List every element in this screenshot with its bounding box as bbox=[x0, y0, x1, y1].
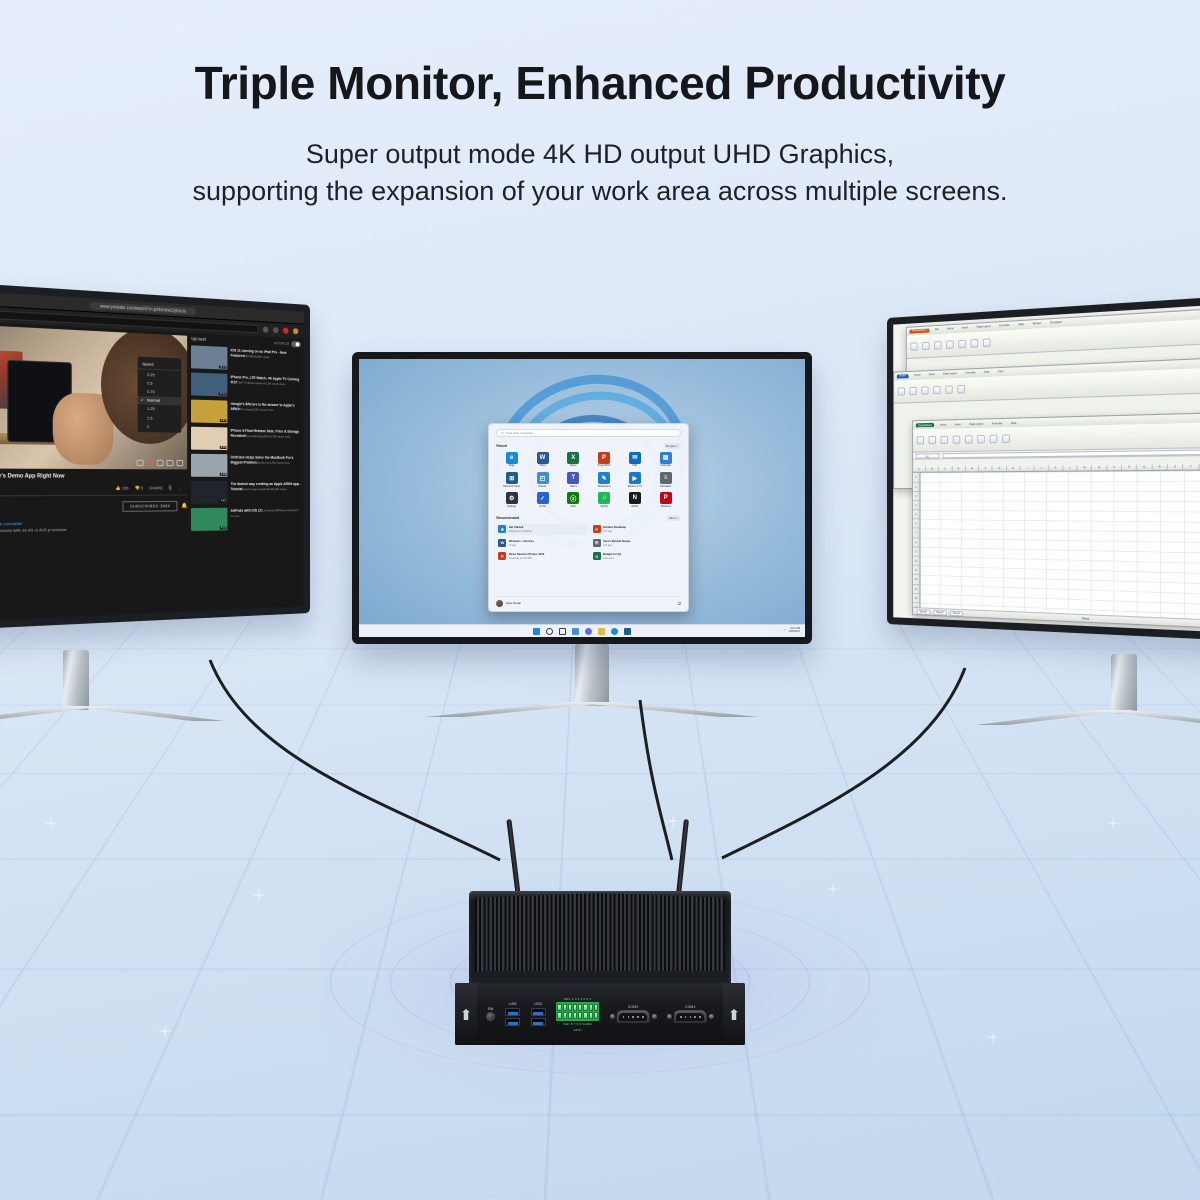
row-header[interactable]: 13 bbox=[913, 584, 919, 594]
system-tray[interactable]: ˄ 6:02 AM 4/25/2021 bbox=[784, 628, 800, 634]
app-icon[interactable]: ✎ bbox=[598, 472, 610, 484]
column-header[interactable]: J bbox=[1035, 466, 1049, 471]
app-icon[interactable]: ♫ bbox=[598, 492, 610, 504]
usb-port[interactable] bbox=[531, 1008, 546, 1016]
notifications-icon[interactable] bbox=[283, 327, 288, 333]
ribbon-group[interactable] bbox=[957, 385, 965, 393]
row-headers[interactable]: 1234567891011121314151617181920212223242… bbox=[913, 473, 920, 607]
start-search-input[interactable]: ⚲ Type here to search bbox=[496, 429, 681, 437]
video-player[interactable]: Speed 0.25 0.5 0.75 Normal 1.25 1.5 2 bbox=[0, 324, 187, 469]
gpio-pin[interactable] bbox=[578, 1004, 582, 1011]
upload-icon[interactable] bbox=[263, 326, 269, 332]
pinned-app[interactable]: ▤Calendar bbox=[650, 452, 681, 468]
usb-label: USB bbox=[534, 1002, 542, 1006]
percent-icon[interactable] bbox=[965, 436, 973, 444]
gpio-pin[interactable] bbox=[583, 1004, 587, 1011]
font-icon[interactable] bbox=[934, 341, 941, 350]
chat-icon[interactable] bbox=[585, 628, 592, 635]
merge-icon[interactable] bbox=[952, 436, 959, 444]
power-icon[interactable]: ⏻ bbox=[678, 601, 681, 606]
db9-pin bbox=[680, 1016, 682, 1018]
row-header[interactable]: 2 bbox=[913, 482, 919, 491]
recommended-item[interactable]: ❖Get StartedWelcome to Windows bbox=[496, 524, 586, 535]
power-button-group[interactable]: SW bbox=[486, 1007, 495, 1022]
gpio-row-top[interactable] bbox=[557, 1004, 598, 1011]
recommended-item[interactable]: XBudget for Q1Last week bbox=[591, 551, 681, 562]
theater-icon[interactable] bbox=[167, 460, 174, 466]
column-header[interactable]: G bbox=[993, 466, 1007, 471]
column-header[interactable]: D bbox=[952, 467, 965, 472]
subscribe-row: SUBSCRIBED 366K 🔔 bbox=[0, 501, 187, 514]
start-icon[interactable] bbox=[533, 628, 540, 635]
video-item-channel: LifeHacks BR bbox=[262, 508, 279, 512]
find-icon[interactable] bbox=[983, 338, 991, 347]
pinned-app[interactable]: ⚙Settings bbox=[496, 492, 527, 508]
app-icon[interactable]: ✉ bbox=[629, 452, 641, 464]
list-item[interactable]: 4:47Google's ARCore is the answer to App… bbox=[191, 399, 301, 424]
pinned-app[interactable]: PPinterest bbox=[650, 492, 681, 508]
recommended-title: Vera's Retreat Recipe bbox=[603, 540, 630, 543]
usb-port[interactable] bbox=[505, 1018, 520, 1026]
sheet-tab[interactable]: Sheet1 bbox=[916, 609, 930, 615]
user-account-button[interactable]: Arice Parap bbox=[496, 600, 521, 607]
search-icon[interactable] bbox=[546, 628, 553, 635]
com1-port[interactable] bbox=[667, 1010, 714, 1023]
ribbon-tab[interactable]: Review bbox=[1030, 322, 1044, 327]
column-header[interactable]: O bbox=[1107, 465, 1122, 471]
column-header[interactable]: Q bbox=[1137, 465, 1152, 471]
column-header[interactable]: L bbox=[1063, 466, 1077, 471]
column-header[interactable]: I bbox=[1021, 466, 1035, 471]
insert-cells-icon[interactable] bbox=[989, 435, 997, 443]
ribbon-tab[interactable]: Insert bbox=[959, 326, 971, 331]
sparkle-icon bbox=[38, 810, 64, 836]
serial-group-com2[interactable]: COM2 bbox=[610, 1005, 657, 1024]
ribbon-group[interactable] bbox=[921, 386, 928, 394]
sheet-tab[interactable]: Sheet3 bbox=[949, 610, 963, 616]
gpio-pin[interactable] bbox=[568, 1012, 572, 1019]
task-view-icon[interactable] bbox=[559, 628, 566, 635]
gpio-terminal-block[interactable] bbox=[556, 1002, 600, 1021]
apps-icon[interactable] bbox=[273, 327, 278, 333]
cell-area[interactable] bbox=[920, 471, 1200, 620]
row-header[interactable]: 7 bbox=[913, 529, 919, 538]
sheet-tab[interactable]: Sheet2 bbox=[933, 609, 947, 615]
app-icon[interactable]: ◰ bbox=[537, 472, 549, 484]
pinned-header: Pinned bbox=[496, 444, 507, 448]
gpio-pin[interactable] bbox=[573, 1004, 577, 1011]
pinned-app[interactable]: ✉Mail bbox=[619, 452, 650, 468]
column-header[interactable]: E bbox=[966, 466, 980, 471]
clipboard-icon[interactable] bbox=[898, 387, 905, 395]
recommended-text: Get StartedWelcome to Windows bbox=[509, 525, 532, 533]
gpio-pin[interactable] bbox=[594, 1004, 598, 1011]
screw-icon bbox=[652, 1014, 657, 1019]
list-item[interactable]: 4:43The fastest way creating an Apple AR… bbox=[191, 480, 301, 503]
subscribe-button[interactable]: SUBSCRIBED 366K bbox=[123, 501, 177, 512]
db9-pin bbox=[699, 1016, 701, 1018]
ribbon-tab[interactable]: Page Layout bbox=[974, 325, 994, 330]
video-thumbnail[interactable]: 4:47 bbox=[191, 399, 227, 423]
subtitle-line-1: Super output mode 4K HD output UHD Graph… bbox=[0, 136, 1200, 173]
fullscreen-icon[interactable] bbox=[177, 460, 184, 466]
list-item[interactable]: 10:12iPhone Pro, LTE Watch, 4K Apple TV … bbox=[191, 372, 301, 398]
ribbon-group[interactable] bbox=[970, 339, 978, 348]
pinned-app[interactable]: PPowerPoint bbox=[589, 452, 620, 468]
ribbon-group[interactable] bbox=[977, 435, 985, 443]
app-label: Pinterest bbox=[650, 506, 681, 509]
db9-connector[interactable] bbox=[673, 1010, 707, 1023]
screen-windows: ⚲ Type here to search Pinned All apps > … bbox=[352, 352, 812, 644]
row-header[interactable]: 10 bbox=[913, 557, 919, 566]
edge-icon[interactable] bbox=[611, 628, 618, 635]
row-header[interactable]: 11 bbox=[913, 566, 919, 575]
power-label: SW bbox=[488, 1007, 494, 1011]
app-icon[interactable]: ≡ bbox=[660, 472, 672, 484]
video-duration: 8:04 bbox=[220, 445, 227, 448]
app-label: Netflix bbox=[619, 506, 650, 509]
ribbon-tab[interactable]: Formulas bbox=[996, 323, 1012, 328]
pinned-app[interactable]: ✓To Do bbox=[527, 492, 558, 508]
row-header[interactable]: 9 bbox=[913, 547, 919, 556]
sort-icon[interactable] bbox=[945, 385, 952, 393]
row-header[interactable]: 5 bbox=[913, 510, 919, 519]
ribbon-group[interactable] bbox=[922, 342, 929, 350]
pinned-app[interactable]: NNetflix bbox=[619, 492, 650, 508]
video-thumbnail[interactable]: 2:03 bbox=[191, 453, 227, 476]
recommended-title: Surface Roadmap bbox=[603, 526, 626, 529]
ribbon-group[interactable] bbox=[945, 385, 952, 393]
column-header[interactable]: T bbox=[1183, 464, 1199, 470]
gpio-pin[interactable] bbox=[568, 1004, 572, 1011]
conditional-format-icon[interactable] bbox=[977, 435, 985, 443]
window-tab-label[interactable]: Book1 bbox=[897, 374, 909, 379]
list-item[interactable]: 15:14iOS 11 running on an iPad Pro - New… bbox=[191, 345, 301, 372]
autosum-icon[interactable] bbox=[1002, 435, 1010, 443]
app-icon[interactable]: e bbox=[506, 452, 518, 464]
like-button[interactable]: 👍 196 bbox=[116, 485, 129, 490]
db9-connector[interactable] bbox=[616, 1010, 650, 1023]
recommended-item[interactable]: PParas Reunion Photos 2019Yesterday at 4… bbox=[496, 551, 586, 562]
video-item-views: 449 views bbox=[275, 487, 287, 491]
mounting-bracket-right bbox=[723, 983, 745, 1045]
settings-icon[interactable] bbox=[157, 460, 164, 466]
pinned-app[interactable]: XExcel bbox=[558, 452, 589, 468]
store-icon[interactable] bbox=[624, 628, 631, 635]
ribbon-group[interactable] bbox=[933, 386, 940, 394]
recommended-item[interactable]: WWindows + Devices7h ago bbox=[496, 537, 586, 548]
column-header[interactable]: K bbox=[1049, 466, 1063, 471]
ribbon-tab[interactable]: Data bbox=[981, 370, 992, 375]
video-duration: 2:03 bbox=[220, 472, 227, 475]
more-recommended-button[interactable]: More > bbox=[666, 515, 681, 521]
ribbon-tab[interactable]: Home bbox=[912, 373, 924, 378]
speed-option[interactable]: 2 bbox=[138, 422, 182, 431]
ribbon-tab[interactable]: Page Layout bbox=[940, 372, 959, 377]
ribbon-group[interactable] bbox=[910, 342, 917, 350]
gpio-pin[interactable] bbox=[563, 1004, 567, 1011]
video-item-channel: The Verge bbox=[240, 407, 253, 411]
serial-group-com1[interactable]: COM1 bbox=[667, 1005, 714, 1024]
shapes-icon[interactable] bbox=[958, 340, 966, 349]
app-icon[interactable]: T bbox=[567, 472, 579, 484]
save-button[interactable]: ⎘ bbox=[169, 485, 172, 490]
ribbon-group[interactable] bbox=[898, 387, 905, 395]
column-header[interactable]: A bbox=[913, 467, 926, 472]
filter-icon[interactable] bbox=[933, 386, 940, 394]
video-duration: 4:15 bbox=[220, 526, 227, 529]
toggle-switch[interactable] bbox=[291, 341, 301, 347]
video-meta: AirPods with iOS 11!LifeHacks BRRecommen… bbox=[231, 507, 302, 530]
avatar[interactable] bbox=[293, 328, 298, 334]
row-header[interactable]: 12 bbox=[913, 575, 919, 584]
ribbon-group[interactable] bbox=[989, 435, 997, 443]
paste-icon[interactable] bbox=[910, 342, 917, 350]
recommended-item[interactable]: ☰Vera's Retreat Recipe12h ago bbox=[591, 537, 681, 548]
row-header[interactable]: 17 bbox=[913, 622, 919, 630]
column-header[interactable]: P bbox=[1122, 465, 1137, 471]
column-header[interactable]: M bbox=[1078, 465, 1093, 470]
pinned-app[interactable]: WWord bbox=[527, 452, 558, 468]
app-icon[interactable]: ⚙ bbox=[506, 492, 518, 504]
app-icon[interactable]: ⓧ bbox=[567, 492, 579, 504]
file-explorer-icon[interactable] bbox=[598, 628, 605, 635]
row-header[interactable]: 3 bbox=[913, 492, 919, 501]
usb-port[interactable] bbox=[505, 1008, 520, 1016]
row-header[interactable]: 4 bbox=[913, 501, 919, 510]
sparkle-icon bbox=[820, 876, 846, 902]
ribbon-tab[interactable]: Data bbox=[1008, 421, 1019, 425]
ribbon-group[interactable] bbox=[916, 437, 923, 445]
app-icon[interactable]: X bbox=[567, 452, 579, 464]
heatsink-fins bbox=[475, 893, 725, 971]
app-icon[interactable]: W bbox=[537, 452, 549, 464]
app-label: Settings bbox=[496, 506, 527, 509]
pinned-app[interactable]: ♫Spotify bbox=[589, 492, 620, 508]
delete-icon[interactable] bbox=[957, 385, 965, 393]
ribbon-tab[interactable]: Data bbox=[1015, 323, 1026, 328]
recommended-title: Windows + Devices bbox=[509, 540, 534, 543]
recommended-text: Vera's Retreat Recipe12h ago bbox=[603, 539, 630, 547]
ribbon-tab[interactable]: Page Layout bbox=[967, 422, 987, 427]
more-actions-button[interactable]: … bbox=[178, 485, 182, 490]
app-label: Calendar bbox=[650, 465, 681, 468]
ribbon-group[interactable] bbox=[952, 436, 959, 444]
gpio-pin[interactable] bbox=[563, 1012, 567, 1019]
column-header[interactable]: S bbox=[1168, 465, 1184, 471]
list-item[interactable]: 2:03DeltCase Helps Solve the MacBook Pro… bbox=[191, 453, 301, 476]
ribbon-tab[interactable]: Home bbox=[944, 327, 956, 332]
search-placeholder: Type here to search bbox=[506, 431, 533, 435]
gpio-name-label: GPIO bbox=[573, 1028, 581, 1032]
pinned-app[interactable]: ▶Movies & TV bbox=[619, 472, 650, 488]
app-label: Edge bbox=[496, 465, 527, 468]
widgets-icon[interactable] bbox=[572, 628, 579, 635]
video-meta: iPhone Pro, LTE Watch, 4K Apple TV Comin… bbox=[231, 373, 302, 398]
all-apps-button[interactable]: All apps > bbox=[663, 443, 681, 449]
gpio-pin[interactable] bbox=[573, 1012, 577, 1019]
ribbon-tab[interactable]: Insert bbox=[926, 373, 938, 378]
name-box[interactable]: A1 bbox=[915, 453, 939, 458]
video-thumbnail[interactable]: 15:14 bbox=[191, 345, 227, 369]
video-thumbnail[interactable]: 10:12 bbox=[191, 372, 227, 396]
app-icon[interactable]: P bbox=[660, 492, 672, 504]
start-menu[interactable]: ⚲ Type here to search Pinned All apps > … bbox=[488, 423, 689, 612]
pinned-app[interactable]: ≡Calculator bbox=[650, 472, 681, 488]
mounting-bracket-left bbox=[455, 983, 477, 1045]
ribbon-group[interactable] bbox=[909, 387, 916, 395]
video-meta: iPhone 8 Final Release Date, Price & Sto… bbox=[231, 427, 302, 450]
arrange-icon[interactable] bbox=[970, 339, 978, 348]
recommended-text: Paras Reunion Photos 2019Yesterday at 4:… bbox=[509, 552, 544, 560]
heatsink bbox=[469, 891, 731, 983]
player-controls[interactable] bbox=[137, 460, 184, 467]
app-icon[interactable]: ▤ bbox=[660, 452, 672, 464]
recommended-icon: P bbox=[498, 552, 506, 560]
window-tab-label[interactable]: Presentation1 bbox=[909, 328, 929, 333]
align-icon[interactable] bbox=[946, 340, 953, 349]
recommended-icon: P bbox=[593, 525, 601, 533]
pinned-app[interactable]: ✎Whiteboard bbox=[589, 472, 620, 488]
list-item[interactable]: 8:04iPhone 8 Final Release Date, Price &… bbox=[191, 426, 301, 450]
page-title: Triple Monitor, Enhanced Productivity bbox=[0, 58, 1200, 110]
ribbon-tab[interactable]: File bbox=[932, 328, 941, 333]
ribbon-group[interactable] bbox=[965, 436, 973, 444]
gpio-pin[interactable] bbox=[557, 1004, 561, 1011]
autoplay-icon[interactable] bbox=[137, 460, 144, 466]
paste-icon[interactable] bbox=[916, 437, 923, 445]
column-header[interactable]: B bbox=[926, 467, 939, 472]
description-link[interactable]: https://www.apple.com/arkit/ bbox=[0, 521, 22, 527]
ribbon-tab[interactable]: View bbox=[995, 370, 1006, 375]
pinned-app[interactable]: eEdge bbox=[496, 452, 527, 468]
gpio-pin[interactable] bbox=[557, 1012, 561, 1019]
share-button[interactable]: SHARE bbox=[149, 485, 163, 490]
ribbon-group[interactable] bbox=[934, 341, 941, 350]
pinned-app[interactable]: ◰Photos bbox=[527, 472, 558, 488]
gpio-pin[interactable] bbox=[589, 1004, 593, 1011]
app-icon[interactable]: ▶ bbox=[629, 472, 641, 484]
ribbon-group[interactable] bbox=[940, 436, 947, 444]
table-icon[interactable] bbox=[909, 387, 916, 395]
ribbon-group[interactable] bbox=[983, 338, 991, 347]
pinned-apps-grid: eEdgeWWordXExcelPPowerPoint✉Mail▤Calenda… bbox=[496, 452, 681, 509]
column-header[interactable]: N bbox=[1092, 465, 1107, 471]
description-text: iOS 11 for iOS devices with an A9 or A10… bbox=[0, 525, 187, 535]
db9-pin bbox=[685, 1016, 687, 1018]
gpio-pin[interactable] bbox=[594, 1012, 598, 1019]
usb-port[interactable] bbox=[531, 1018, 546, 1026]
list-item[interactable]: 4:15AirPods with iOS 11!LifeHacks BRReco… bbox=[191, 507, 301, 531]
recommended-item[interactable]: PSurface Roadmap3 hr ago bbox=[591, 524, 681, 535]
playback-speed-menu[interactable]: Speed 0.25 0.5 0.75 Normal 1.25 1.5 2 bbox=[138, 357, 182, 434]
chevron-up-icon[interactable]: ˄ bbox=[784, 630, 786, 633]
gpio-group[interactable]: SW+ 4 3 2 1 0 5 V SW- 8 7 6 5 SGND GPIO bbox=[556, 997, 600, 1032]
power-button[interactable] bbox=[486, 1012, 495, 1021]
recommended-subtitle: Yesterday at 4:23 PM bbox=[509, 557, 532, 560]
pinned-app[interactable]: ⓧXbox bbox=[558, 492, 589, 508]
video-thumbnail[interactable]: 4:15 bbox=[191, 507, 227, 530]
avatar bbox=[496, 600, 503, 607]
usb-stack[interactable] bbox=[531, 1008, 546, 1026]
window-spreadsheet[interactable]: Spreadsheet Home Insert Page Layout Form… bbox=[912, 412, 1200, 629]
video-item-views: 125K views New bbox=[253, 407, 273, 412]
ribbon-tab[interactable]: Insert bbox=[952, 422, 964, 426]
ribbon-tab[interactable]: Formulas bbox=[989, 421, 1005, 426]
ribbon-group[interactable] bbox=[958, 340, 966, 349]
row-header[interactable]: 14 bbox=[913, 594, 919, 604]
recommended-subtitle: 12h ago bbox=[603, 544, 612, 547]
monitor-right: Presentation1 File Home Insert Page Layo… bbox=[887, 295, 1200, 691]
app-icon[interactable]: ⊞ bbox=[506, 472, 518, 484]
app-label: Spotify bbox=[589, 506, 620, 509]
column-header[interactable]: F bbox=[979, 466, 993, 471]
video-duration: 15:14 bbox=[219, 365, 227, 368]
gpio-row-bottom[interactable] bbox=[557, 1012, 598, 1019]
up-next-sidebar: Up next AUTOPLAY 15:14iOS 11 running on … bbox=[190, 333, 303, 612]
recommended-subtitle: 3 hr ago bbox=[603, 530, 612, 533]
usb-stack[interactable] bbox=[505, 1008, 520, 1026]
clock[interactable]: 6:02 AM 4/25/2021 bbox=[788, 628, 800, 634]
com2-port[interactable] bbox=[610, 1010, 657, 1023]
window-tab-label[interactable]: Spreadsheet bbox=[915, 423, 934, 428]
ribbon-tab[interactable]: Home bbox=[937, 423, 949, 427]
slide-layout-icon[interactable] bbox=[922, 342, 929, 350]
ribbon-tab[interactable]: Developer bbox=[1047, 320, 1065, 325]
gpio-pin[interactable] bbox=[583, 1012, 587, 1019]
db9-pin bbox=[637, 1016, 639, 1018]
app-label: PowerPoint bbox=[589, 465, 620, 468]
app-icon[interactable]: N bbox=[629, 492, 641, 504]
screen-spreadsheet: Presentation1 File Home Insert Page Layo… bbox=[887, 295, 1200, 641]
app-icon[interactable]: ✓ bbox=[537, 492, 549, 504]
video-item-title: AirPods with iOS 11! bbox=[231, 508, 263, 512]
recommended-icon: W bbox=[498, 539, 506, 547]
app-icon[interactable]: P bbox=[598, 452, 610, 464]
bold-icon[interactable] bbox=[928, 436, 935, 444]
row-header[interactable]: 8 bbox=[913, 538, 919, 547]
video-thumbnail[interactable]: 4:43 bbox=[191, 480, 227, 503]
notification-bell-icon[interactable]: 🔔 bbox=[181, 503, 187, 509]
pinned-app[interactable]: ⊞Microsoft Store bbox=[496, 472, 527, 488]
usb-group-1[interactable]: USB bbox=[505, 1002, 520, 1026]
sheet-tabs[interactable]: Sheet1 Sheet2 Sheet3 bbox=[916, 609, 963, 616]
spreadsheet-grid[interactable]: ABCDEFGHIJKLMNOPQRSTUV 12345678910111213… bbox=[913, 464, 1200, 620]
row-header[interactable]: 6 bbox=[913, 520, 919, 529]
video-thumbnail[interactable]: 8:04 bbox=[191, 426, 227, 449]
screw-icon bbox=[709, 1014, 714, 1019]
ribbon-group[interactable] bbox=[1002, 435, 1010, 443]
dislike-button[interactable]: 👎 5 bbox=[135, 485, 143, 490]
usb-group-2[interactable]: USB bbox=[531, 1002, 546, 1026]
column-header[interactable]: R bbox=[1152, 465, 1167, 471]
gpio-pin[interactable] bbox=[578, 1012, 582, 1019]
align-icon[interactable] bbox=[940, 436, 947, 444]
recommended-text: Budget for Q1Last week bbox=[603, 552, 621, 560]
column-header[interactable]: H bbox=[1007, 466, 1021, 471]
autoplay-toggle[interactable]: AUTOPLAY bbox=[274, 340, 301, 347]
ribbon-group[interactable] bbox=[928, 436, 935, 444]
ribbon-tab[interactable]: Formulas bbox=[962, 371, 978, 376]
app-label: Teams bbox=[558, 486, 589, 489]
pinned-app[interactable]: TTeams bbox=[558, 472, 589, 488]
chart-icon[interactable] bbox=[921, 386, 928, 394]
gpio-pin[interactable] bbox=[589, 1012, 593, 1019]
ribbon-group[interactable] bbox=[946, 340, 953, 349]
row-header[interactable]: 1 bbox=[913, 473, 919, 482]
column-header[interactable]: C bbox=[939, 467, 952, 472]
subtitles-icon[interactable] bbox=[147, 460, 154, 466]
